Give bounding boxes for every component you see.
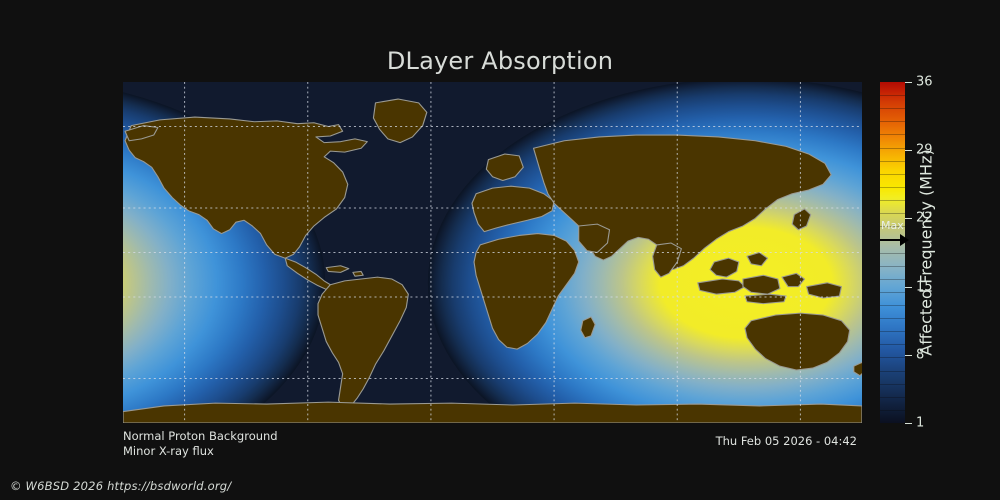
- colorbar-tick: [905, 287, 912, 288]
- land-antarctica: [123, 402, 862, 423]
- map-canvas: [123, 82, 862, 423]
- page-title: DLayer Absorption: [0, 47, 1000, 75]
- world-map: [123, 82, 862, 423]
- colorbar-gradient: [880, 82, 905, 423]
- colorbar-tick: [905, 150, 912, 151]
- dlayer-absorption-app: DLayer Absorption: [0, 0, 1000, 500]
- colorbar-tick: [905, 355, 912, 356]
- footer-credit: © W6BSD 2026 https://bsdworld.org/: [10, 479, 231, 493]
- colorbar-axis-label: Affected Frequency (MHz): [916, 82, 936, 423]
- colorbar-tick: [905, 218, 912, 219]
- colorbar: [880, 82, 905, 423]
- colorbar-tick: [905, 423, 912, 424]
- colorbar-tick: [905, 82, 912, 83]
- land-hispaniola: [353, 271, 363, 276]
- colorbar-axis-label-text: Affected Frequency (MHz): [917, 149, 936, 355]
- timestamp: Thu Feb 05 2026 - 04:42: [0, 434, 857, 448]
- land-java: [745, 294, 786, 303]
